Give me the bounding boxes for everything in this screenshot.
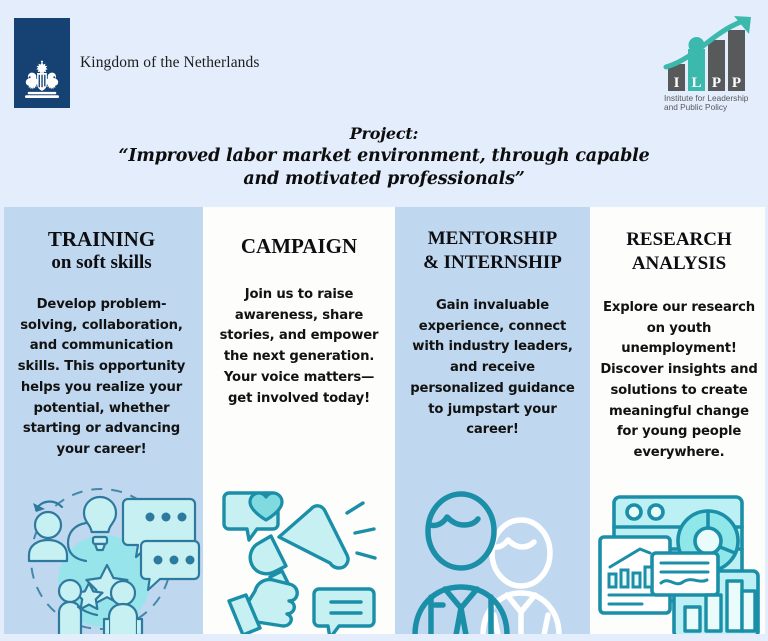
- ilpp-letter: P: [712, 75, 721, 91]
- program-columns: TRAINING on soft skills Develop problem-…: [0, 207, 768, 641]
- ilpp-letter: I: [674, 75, 680, 91]
- ilpp-logo: I L P P Institute for Leadership and Pub…: [656, 12, 760, 112]
- column-research-body: Explore our research on youth unemployme…: [590, 298, 768, 464]
- poster-header: Kingdom of the Netherlands I L P P: [0, 0, 768, 207]
- column-training-heading-line2: on soft skills: [6, 251, 197, 275]
- column-campaign: CAMPAIGN Join us to raise awareness, sha…: [203, 207, 395, 641]
- netherlands-coat-of-arms-icon: [14, 18, 70, 108]
- mentor-and-mentee-illustration: [395, 485, 590, 641]
- column-campaign-body: Join us to raise awareness, share storie…: [203, 285, 395, 409]
- column-research: RESEARCH ANALYSIS Explore our research o…: [590, 207, 768, 641]
- soft-skills-illustration: [0, 481, 203, 641]
- ilpp-letter: P: [732, 75, 741, 91]
- data-analytics-illustration: [590, 483, 768, 641]
- bottom-page-edge: [0, 634, 768, 641]
- column-research-heading-line1: RESEARCH: [596, 228, 762, 252]
- column-research-heading-line2: ANALYSIS: [596, 252, 762, 276]
- project-title-line-2: and motivated professionals”: [0, 168, 768, 191]
- column-training-heading: TRAINING on soft skills: [0, 227, 203, 275]
- project-title-line-1: “Improved labor market environment, thro…: [0, 145, 768, 168]
- column-training-body: Develop problem-solving, collaboration, …: [0, 295, 203, 461]
- poster-canvas: Kingdom of the Netherlands I L P P: [0, 0, 768, 641]
- column-mentorship-body: Gain invaluable experience, connect with…: [395, 296, 590, 441]
- left-page-edge: [0, 207, 4, 641]
- megaphone-illustration: [203, 485, 395, 641]
- project-label: Project:: [0, 122, 768, 145]
- column-campaign-heading-line1: CAMPAIGN: [209, 234, 389, 258]
- column-research-heading: RESEARCH ANALYSIS: [590, 228, 768, 276]
- column-training: TRAINING on soft skills Develop problem-…: [0, 207, 203, 641]
- ilpp-letter: L: [691, 75, 701, 91]
- column-mentorship-heading: MENTORSHIP & INTERNSHIP: [395, 227, 590, 275]
- column-mentorship-heading-line1: MENTORSHIP: [401, 227, 584, 251]
- project-title: Project: “Improved labor market environm…: [0, 122, 768, 191]
- column-mentorship-heading-line2: & INTERNSHIP: [401, 251, 584, 275]
- column-training-heading-line1: TRAINING: [6, 227, 197, 251]
- government-wordmark: Kingdom of the Netherlands: [80, 54, 260, 72]
- ilpp-tagline-line2: and Public Policy: [664, 102, 728, 112]
- column-campaign-heading: CAMPAIGN: [203, 234, 395, 258]
- column-mentorship: MENTORSHIP & INTERNSHIP Gain invaluable …: [395, 207, 590, 641]
